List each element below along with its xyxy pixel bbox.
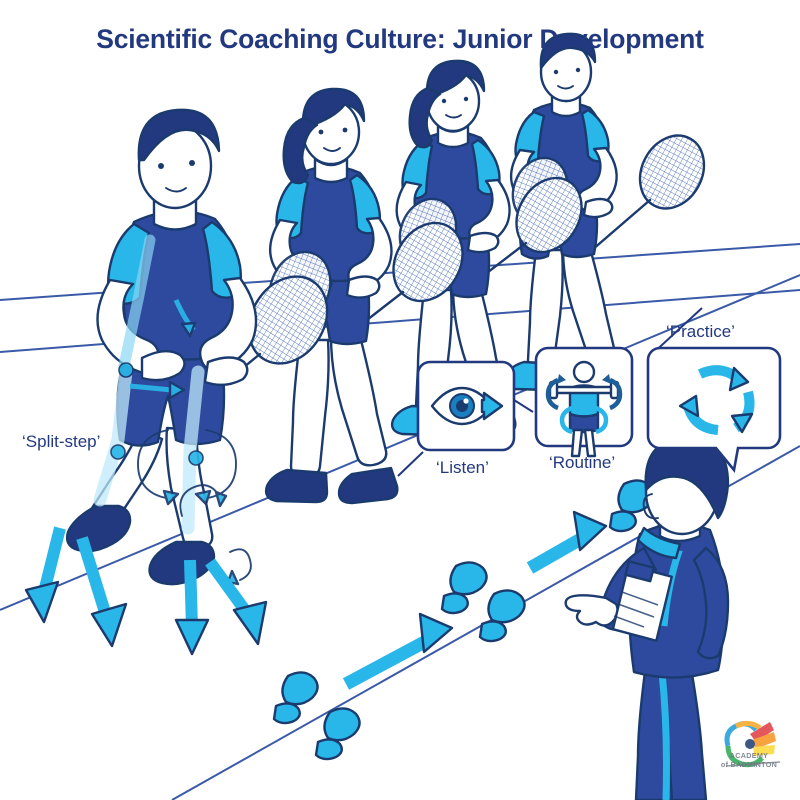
shuttlecock-icon <box>706 704 792 790</box>
label-practice: ‘Practice’ <box>666 322 735 342</box>
label-routine: ‘Routine’ <box>549 453 615 473</box>
infographic-canvas: .ol{stroke:#1b3b6f;stroke-width:2.4;stro… <box>0 0 800 800</box>
label-listen: ‘Listen’ <box>436 458 489 478</box>
footprint-pair-2 <box>442 562 525 641</box>
scene-illustration: .ol{stroke:#1b3b6f;stroke-width:2.4;stro… <box>0 0 800 800</box>
ground-force-arrows <box>26 528 266 654</box>
watermark-logo: ACADEMYof BADMINTON <box>706 704 792 790</box>
movement-arrow-1 <box>346 614 452 684</box>
coach <box>566 438 728 800</box>
watermark-text: ACADEMYof BADMINTON <box>706 751 792 769</box>
label-split-step: ‘Split-step’ <box>22 432 100 452</box>
icon-box-routine[interactable] <box>536 348 632 456</box>
page-title: Scientific Coaching Culture: Junior Deve… <box>0 24 800 55</box>
icon-box-listen[interactable] <box>418 362 514 450</box>
movement-arrow-2 <box>530 512 606 568</box>
